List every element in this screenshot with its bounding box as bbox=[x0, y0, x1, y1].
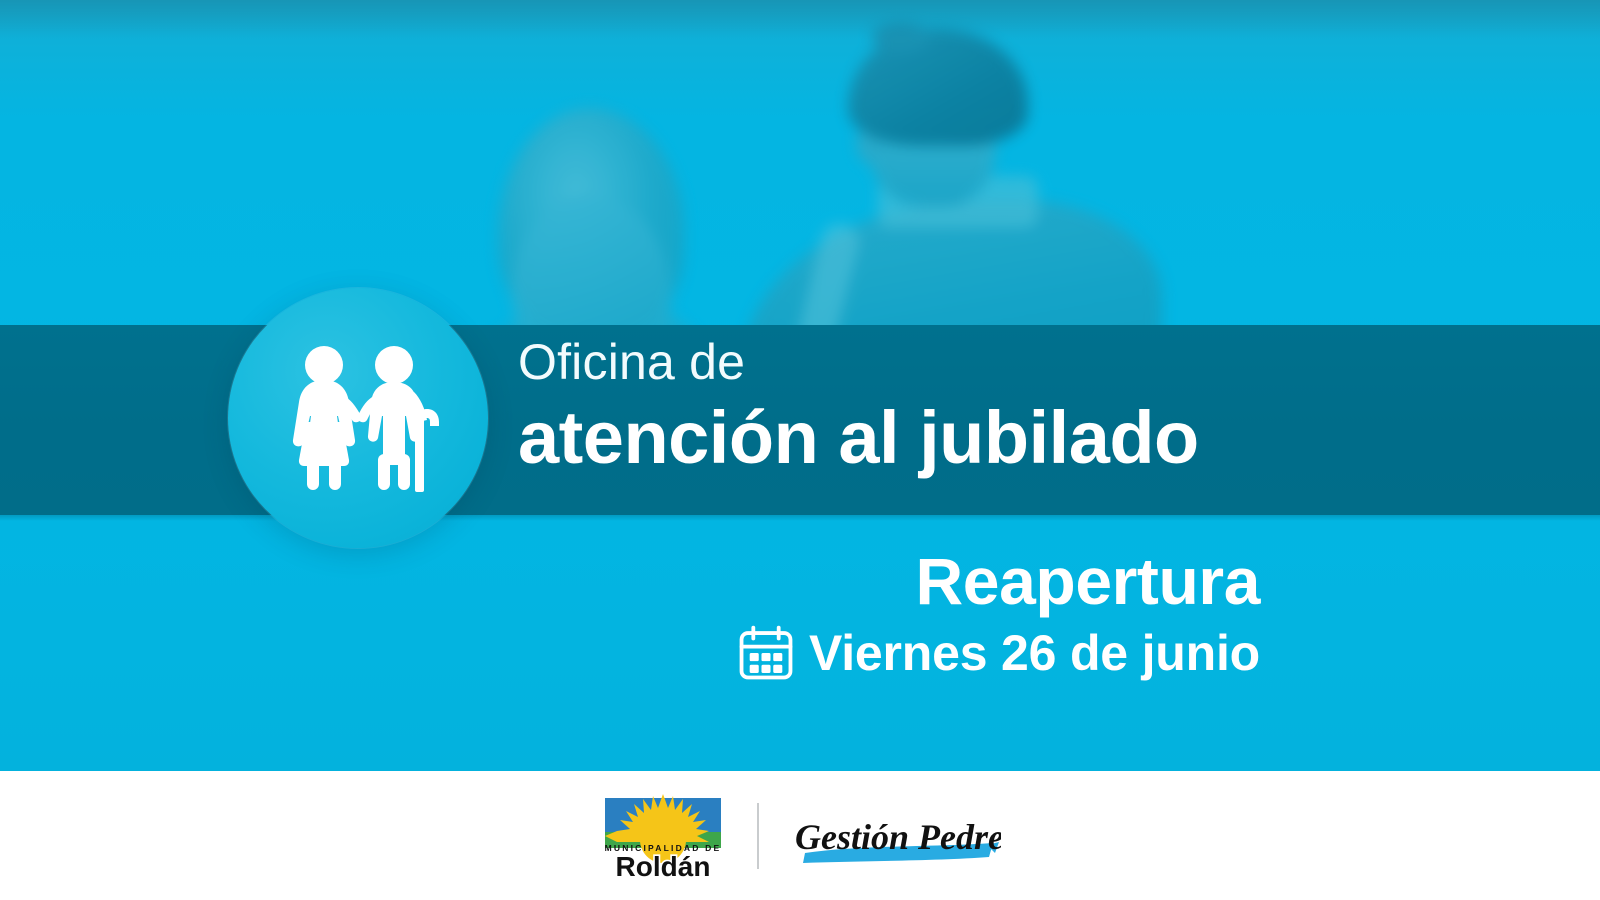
photo-man-beret bbox=[848, 28, 1028, 146]
headline-line-2: atención al jubilado bbox=[518, 399, 1498, 477]
footer-logos: MUNICIPALIDAD DE Roldán Gestión Pedretti bbox=[0, 771, 1600, 900]
headline-band-shadow bbox=[0, 515, 1600, 521]
announcement-title: Reapertura bbox=[600, 548, 1260, 614]
announcement-banner: Oficina de atención al jubilado Reapertu… bbox=[0, 0, 1600, 900]
headline-block: Oficina de atención al jubilado bbox=[518, 337, 1498, 477]
announcement-date: Viernes 26 de junio bbox=[809, 628, 1260, 678]
announcement-block: Reapertura Viernes 26 de juni bbox=[600, 548, 1260, 682]
badge-circle bbox=[228, 288, 488, 548]
administration-name: Gestión Pedretti bbox=[795, 817, 1001, 857]
footer-divider bbox=[757, 803, 759, 869]
headline-line-1: Oficina de bbox=[518, 337, 1498, 387]
elderly-couple-icon bbox=[274, 334, 442, 502]
announcement-dateline: Viernes 26 de junio bbox=[600, 624, 1260, 682]
municipality-name: Roldán bbox=[616, 851, 711, 880]
municipality-roldan-logo: MUNICIPALIDAD DE Roldán bbox=[599, 792, 727, 880]
gestion-pedretti-logo: Gestión Pedretti bbox=[789, 799, 1001, 873]
background-top-tint bbox=[0, 0, 1600, 40]
calendar-icon bbox=[737, 624, 795, 682]
